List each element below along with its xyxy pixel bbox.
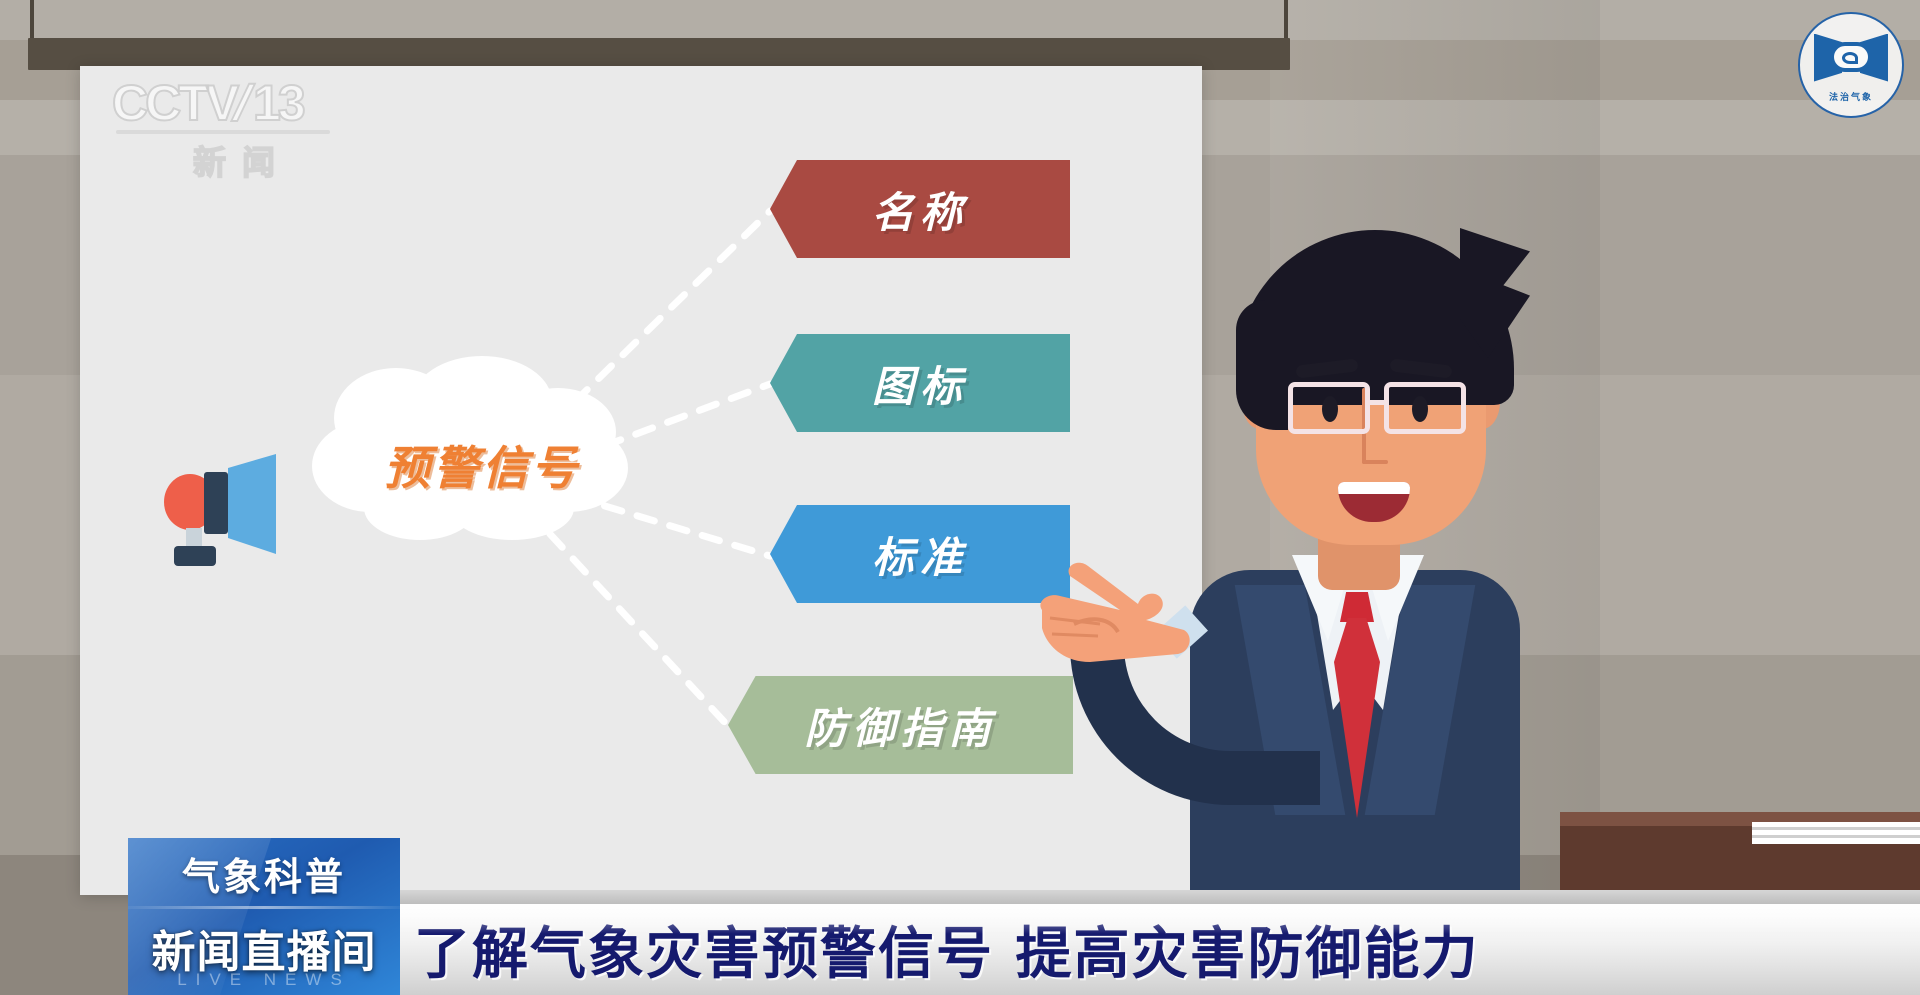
logo-swirl-icon <box>1842 52 1858 64</box>
headline-bar-top-edge <box>400 890 1920 904</box>
lower-third-category: 气象科普 <box>128 846 400 901</box>
connector-line <box>572 496 770 556</box>
presenter-hair-side <box>1236 300 1288 430</box>
presenter-glasses-bridge <box>1368 400 1386 405</box>
presenter-hand <box>1034 558 1204 668</box>
mindmap-branch-name[interactable]: 名称 <box>770 160 1070 258</box>
cartoon-presenter <box>1040 200 1600 995</box>
presenter-glasses-right <box>1384 382 1466 434</box>
lower-third-divider <box>128 906 400 909</box>
headline-bar-gloss <box>400 904 1920 934</box>
lower-third-badge: 气象科普 新闻直播间 LIVE NEWS <box>128 838 400 995</box>
presenter-teeth <box>1338 482 1410 494</box>
presenter-glasses-left <box>1288 382 1370 434</box>
connector-line <box>550 534 730 728</box>
broadcast-frame: CCTV/13 新闻 预警信号 <box>0 0 1920 995</box>
mindmap-branch-icon[interactable]: 图标 <box>770 334 1070 432</box>
weather-bureau-logo-mark <box>1814 28 1888 88</box>
weather-bureau-logo: 法治气象 <box>1798 12 1904 118</box>
mindmap-branch-guide[interactable]: 防御指南 <box>728 676 1073 774</box>
connector-line <box>572 384 770 458</box>
headline-bar: 了解气象灾害预警信号 提高灾害防御能力 <box>400 904 1920 995</box>
lower-third-program-en: LIVE NEWS <box>128 970 400 990</box>
weather-bureau-logo-caption: 法治气象 <box>1829 90 1873 103</box>
presenter-nose-base <box>1362 460 1388 464</box>
desk-papers <box>1752 822 1920 844</box>
mindmap-branch-standard[interactable]: 标准 <box>770 505 1070 603</box>
